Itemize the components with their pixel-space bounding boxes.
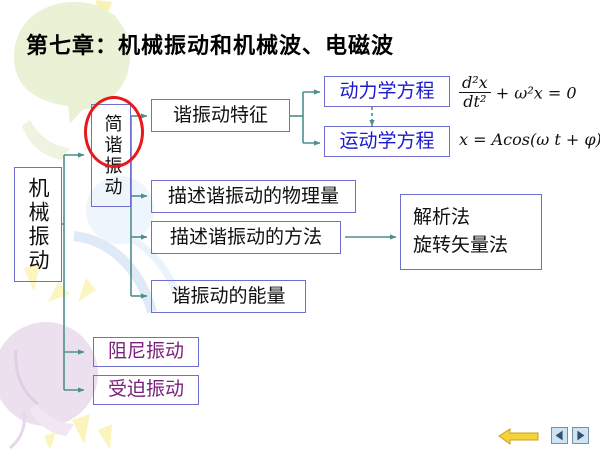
formula-dynamics-rest: + ω²x = 0 — [496, 83, 577, 102]
node-description-methods-label: 描述谐振动的方法 — [170, 228, 322, 248]
node-physical-quantities-label: 描述谐振动的物理量 — [168, 187, 339, 207]
node-method-list-line2: 旋转矢量法 — [413, 236, 508, 256]
node-harmonic-features-label: 谐振动特征 — [173, 106, 268, 126]
node-dynamics-equation-label: 动力学方程 — [339, 82, 434, 102]
node-mechanical-vibration[interactable]: 机械振动 — [14, 167, 62, 282]
red-highlight-ellipse — [84, 96, 144, 168]
node-method-list[interactable]: 解析法 旋转矢量法 — [400, 194, 542, 270]
node-harmonic-energy[interactable]: 谐振动的能量 — [151, 280, 306, 313]
back-arrow-icon[interactable] — [497, 427, 541, 445]
node-forced-vibration[interactable]: 受迫振动 — [93, 375, 199, 405]
formula-dynamics: d²x dt² + ω²x = 0 — [459, 74, 577, 112]
next-slide-button[interactable] — [572, 427, 589, 444]
node-kinematics-equation-label: 运动学方程 — [339, 132, 434, 152]
triangle-right-icon — [573, 428, 588, 443]
node-harmonic-energy-label: 谐振动的能量 — [171, 287, 285, 307]
node-description-methods[interactable]: 描述谐振动的方法 — [151, 221, 341, 254]
previous-slide-button[interactable] — [551, 427, 568, 444]
node-method-list-line1: 解析法 — [413, 208, 470, 228]
formula-dynamics-denominator: dt² — [459, 93, 491, 111]
formula-dynamics-fraction: d²x dt² — [459, 74, 491, 112]
page-title: 第七章：机械振动和机械波、电磁波 — [26, 28, 394, 60]
node-mechanical-vibration-label: 机械振动 — [27, 177, 49, 273]
slide-canvas: 第七章：机械振动和机械波、电磁波 机械振动 简谐振动 谐振动特征 描述谐振动的物… — [0, 0, 600, 450]
node-dynamics-equation[interactable]: 动力学方程 — [324, 76, 450, 107]
node-harmonic-features[interactable]: 谐振动特征 — [151, 99, 290, 132]
triangle-left-icon — [552, 428, 567, 443]
formula-kinematics: x = Acos(ω t + φ) — [459, 130, 600, 149]
node-kinematics-equation[interactable]: 运动学方程 — [324, 126, 450, 157]
formula-dynamics-numerator: d²x — [459, 74, 491, 93]
node-physical-quantities[interactable]: 描述谐振动的物理量 — [151, 180, 356, 213]
node-forced-vibration-label: 受迫振动 — [108, 380, 184, 400]
node-damped-vibration[interactable]: 阻尼振动 — [93, 337, 199, 367]
node-damped-vibration-label: 阻尼振动 — [108, 342, 184, 362]
